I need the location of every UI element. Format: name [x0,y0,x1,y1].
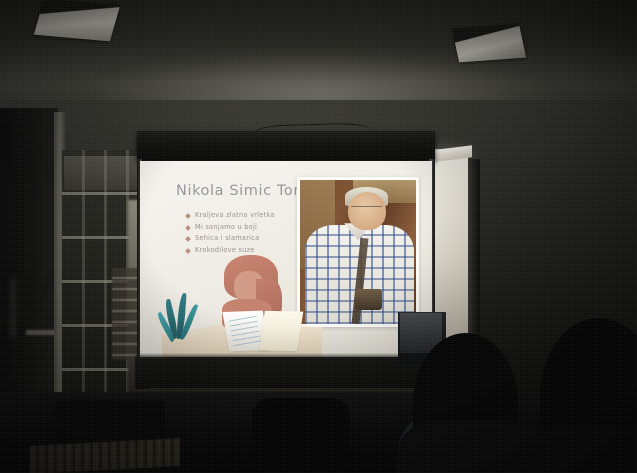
photo-camera [355,289,383,309]
ceiling-light-right-icon [452,24,526,63]
bullet-marker-icon [185,236,191,242]
shelf-divider [104,150,107,410]
presentation-slide: Nikola Simic Tonin Kraljeva zlatna vrlet… [140,161,432,357]
bullet-text: Kraljeva zlatna vrletka [195,211,275,219]
ceiling-light-left-icon [34,0,120,41]
plant-icon [162,293,202,351]
presentation-room-photo: Nikola Simic Tonin Kraljeva zlatna vrlet… [0,0,637,473]
screen-surface: Nikola Simic Tonin Kraljeva zlatna vrlet… [140,161,432,357]
projector-screen: Nikola Simic Tonin Kraljeva zlatna vrlet… [137,131,435,393]
left-cabinet [0,108,58,408]
bullet-marker-icon [185,213,191,219]
foreground-object [252,398,350,473]
shelf-divider [82,150,85,410]
screen-top-bar [137,131,435,161]
glasses-icon [351,206,382,214]
reading-person-illustration [220,255,282,329]
book-text-lines [229,316,261,346]
book-icon [259,311,304,351]
bullet-text: Sehica i slamarica [195,234,259,242]
cabinet-highlight [10,278,16,338]
slide-illustration [162,253,322,357]
cabinet-glint [26,330,56,335]
bullet-text: Mi sanjamo u boji [195,223,257,231]
bullet-marker-icon [185,225,191,231]
screen-bottom-bar [135,353,437,389]
